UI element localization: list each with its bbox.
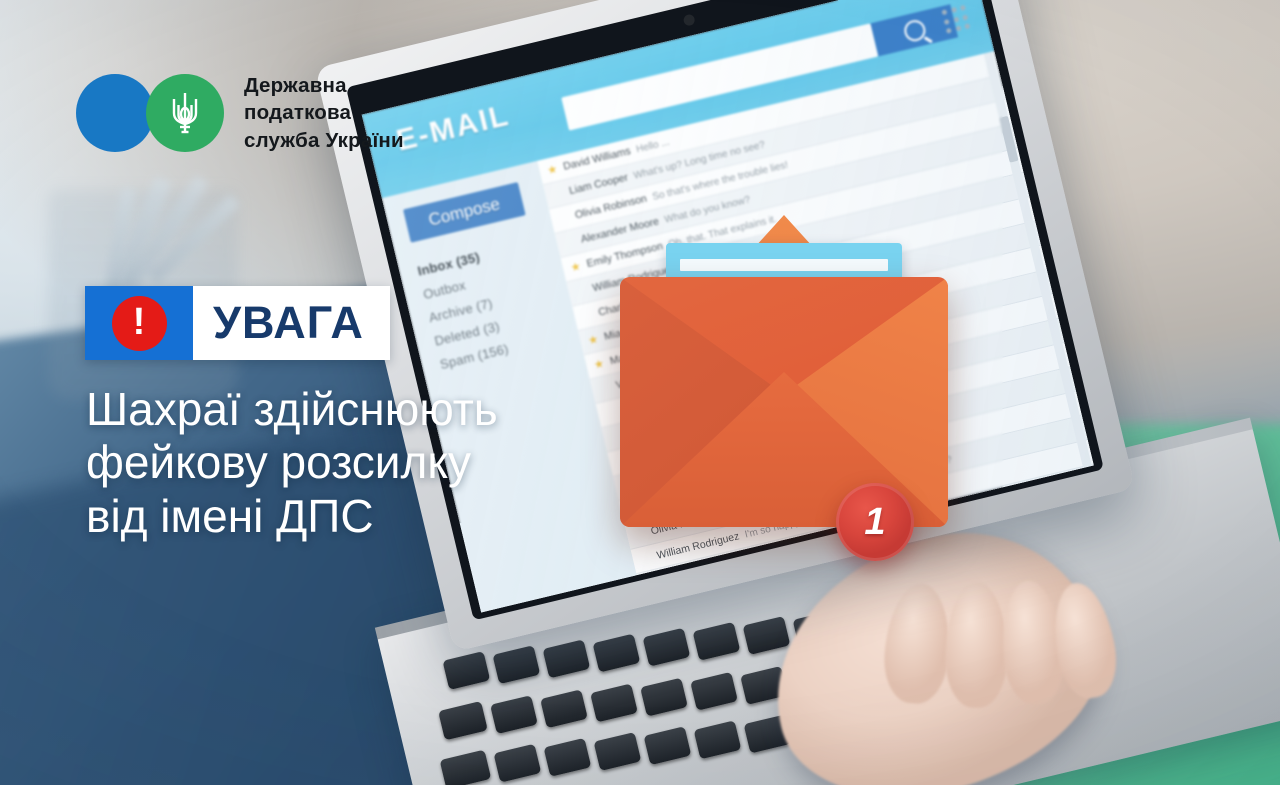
exclamation-mark-icon: ! [112,296,167,351]
dps-logo-text: Державна податкова служба України [244,72,404,154]
poster-canvas: E-MAIL ‹ › [0,0,1280,785]
logo-green-circle-icon [146,74,224,152]
attention-label: УВАГА [213,297,364,349]
attention-label-panel: УВАГА [193,286,390,360]
attention-badge: ! УВАГА [85,286,390,360]
logo-blue-circle-icon [76,74,154,152]
dps-logo: Державна податкова служба України [76,72,404,154]
headline-text: Шахраї здійснюють фейкову розсилку від і… [86,383,666,543]
ukraine-trident-icon [165,89,205,137]
attention-icon-panel: ! [85,286,193,360]
